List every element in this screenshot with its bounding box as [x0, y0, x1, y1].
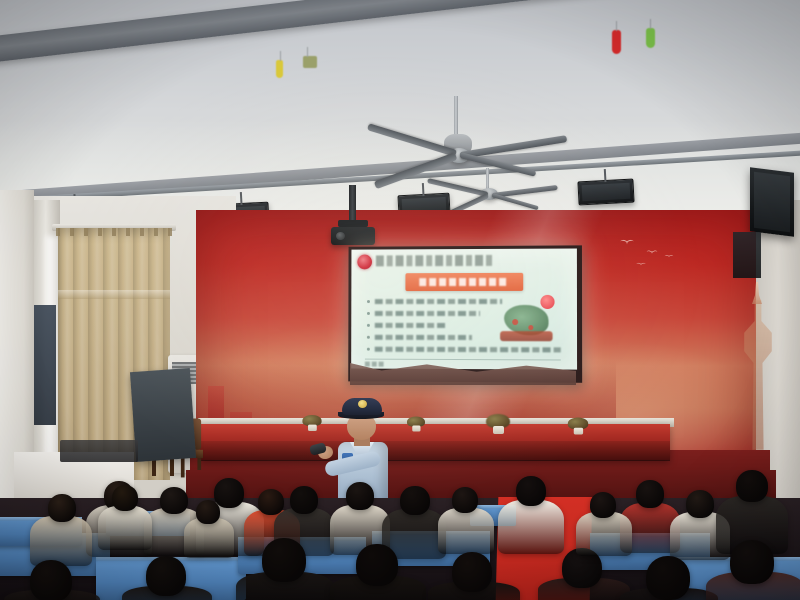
flower-arrangement — [302, 415, 321, 431]
backdrop-bird — [646, 251, 657, 256]
ceiling-projector — [331, 227, 375, 245]
audience-member-body — [98, 506, 152, 550]
slide-bullet-marker — [367, 336, 370, 339]
cabinet-equipment — [60, 440, 138, 462]
audience-member-head — [452, 487, 478, 513]
audience-member-head — [112, 485, 138, 511]
flower-vase — [493, 426, 504, 434]
ceiling-decoration-green — [646, 28, 655, 48]
audience-member-head — [400, 486, 430, 515]
slide-illustration — [498, 295, 559, 341]
backdrop-bird — [636, 263, 646, 267]
backdrop-bird — [620, 240, 634, 246]
audience-member-head — [516, 476, 546, 506]
speaker-grill — [582, 183, 631, 201]
audience-member-head — [686, 490, 714, 518]
audience-member-head — [290, 486, 318, 514]
slide-title-text — [376, 255, 495, 266]
slide-bullet-marker — [367, 300, 370, 303]
speaker-grill — [754, 172, 790, 232]
ceiling-decoration-olive — [303, 56, 317, 68]
slide-sun-graphic — [540, 295, 554, 309]
audience-member-head — [736, 470, 768, 502]
flower-vase — [308, 425, 317, 431]
audience-member-body — [498, 500, 564, 554]
dark-monitor-panel — [130, 368, 196, 462]
flower-arrangement — [486, 414, 510, 434]
audience-member-head — [160, 487, 188, 514]
projection-screen — [351, 248, 577, 369]
audience-member-head — [636, 480, 664, 508]
audience-member-head — [356, 544, 398, 586]
curtain-band — [58, 290, 170, 299]
slide-banner — [405, 273, 523, 291]
curtain-rings — [56, 228, 174, 236]
slide-accent-dot — [528, 325, 533, 330]
chair-leg — [181, 458, 185, 477]
fan-rod — [486, 168, 489, 190]
audience-member-body — [576, 512, 632, 556]
slide-bullet-text — [375, 311, 480, 316]
slide-bullet-text — [375, 299, 502, 304]
hanging-speaker-right — [577, 179, 634, 206]
flower-arrangement — [407, 417, 425, 432]
audience-member-head — [196, 500, 220, 524]
wall-board — [34, 305, 56, 425]
audience-member-body — [30, 516, 92, 566]
audience-member-head — [262, 538, 306, 582]
slide-banner-text — [419, 278, 509, 286]
audience-member-head — [346, 482, 374, 510]
audience-member-head — [48, 494, 76, 522]
ceiling-decoration-red — [612, 30, 621, 54]
auditorium-photo — [0, 0, 800, 600]
slide-bullet-marker — [367, 324, 370, 327]
slide-base-graphic — [500, 331, 553, 341]
slide-bullet-text — [375, 335, 472, 340]
slide-footer-text — [365, 362, 385, 367]
audience-member-head — [146, 556, 186, 596]
ceiling-fan-main — [348, 96, 588, 176]
wall-speaker-backdrop — [733, 232, 761, 278]
wall-speaker-right — [750, 167, 794, 236]
flower-vase — [412, 426, 420, 432]
slide-bullet-text — [375, 323, 448, 328]
fan-blade — [491, 193, 538, 210]
audience-member-head — [730, 540, 774, 584]
slide-bullet-text — [375, 347, 561, 353]
slide-emblem-icon — [357, 255, 372, 270]
ceiling-decoration-yellow — [276, 60, 283, 78]
flower-arrangement — [568, 418, 588, 435]
audience-member-body — [438, 508, 494, 554]
projector-lens — [336, 232, 345, 240]
audience-member-head — [30, 560, 72, 600]
head-table-skirt — [200, 441, 670, 461]
slide-accent-dot — [512, 319, 518, 325]
fan-rod — [454, 96, 458, 138]
flower-vase — [574, 428, 583, 435]
audience-member-head — [214, 478, 244, 508]
audience-member-body — [184, 518, 234, 558]
officer-cap-badge-icon — [358, 400, 367, 408]
slide-bullet-marker — [367, 312, 370, 315]
audience-member-head — [258, 489, 284, 515]
slide-bullet-marker — [367, 348, 370, 351]
slide-divider — [365, 359, 561, 361]
audience-member-head — [452, 552, 492, 592]
audience-member-head — [590, 492, 616, 518]
projector-mount-plate — [338, 220, 368, 227]
audience-member-head — [646, 556, 690, 600]
backdrop-bird — [664, 255, 673, 259]
